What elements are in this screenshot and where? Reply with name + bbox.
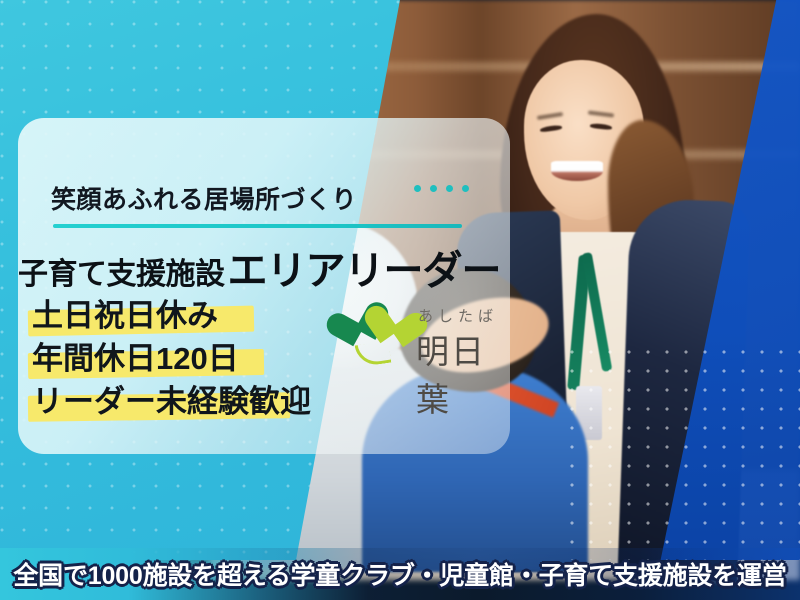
decor-dots xyxy=(414,185,469,192)
footer-text: 全国で1000施設を超える学童クラブ・児童館・子育て支援施設を運営 xyxy=(0,548,800,600)
title-prefix: 子育て支援施設 xyxy=(18,258,225,291)
logo-kana: あしたば xyxy=(418,305,498,326)
woman-smile xyxy=(551,161,603,181)
footer-banner: 全国で1000施設を超える学童クラブ・児童館・子育て支援施設を運営 xyxy=(0,548,800,600)
logo-kanji: 明日葉 xyxy=(416,325,504,421)
card-subtitle: 笑顔あふれる居場所づくり xyxy=(51,180,381,216)
dot-pattern-overlay xyxy=(570,350,800,560)
decor-dot-1 xyxy=(414,185,421,192)
benefit-list: 土日祝日休み 年間休日120日 リーダー未経験歓迎 xyxy=(20,296,380,425)
banner-stage: 笑顔あふれる居場所づくり 子育て支援施設エリアリーダー 土日祝日休み 年間休日1… xyxy=(0,0,800,600)
benefit-label: リーダー未経験歓迎 xyxy=(20,382,380,422)
benefit-item: リーダー未経験歓迎 xyxy=(20,382,380,425)
page-title: 子育て支援施設エリアリーダー xyxy=(18,238,518,296)
decor-dot-4 xyxy=(462,185,469,192)
title-role: エリアリーダー xyxy=(228,249,501,293)
benefit-label: 年間休日120日 xyxy=(20,339,380,379)
benefit-label: 土日祝日休み xyxy=(20,296,380,336)
benefit-item: 土日祝日休み xyxy=(20,296,380,339)
decor-dot-3 xyxy=(446,185,453,192)
benefit-item: 年間休日120日 xyxy=(20,339,380,382)
decor-dot-2 xyxy=(430,185,437,192)
card-divider xyxy=(53,224,462,228)
